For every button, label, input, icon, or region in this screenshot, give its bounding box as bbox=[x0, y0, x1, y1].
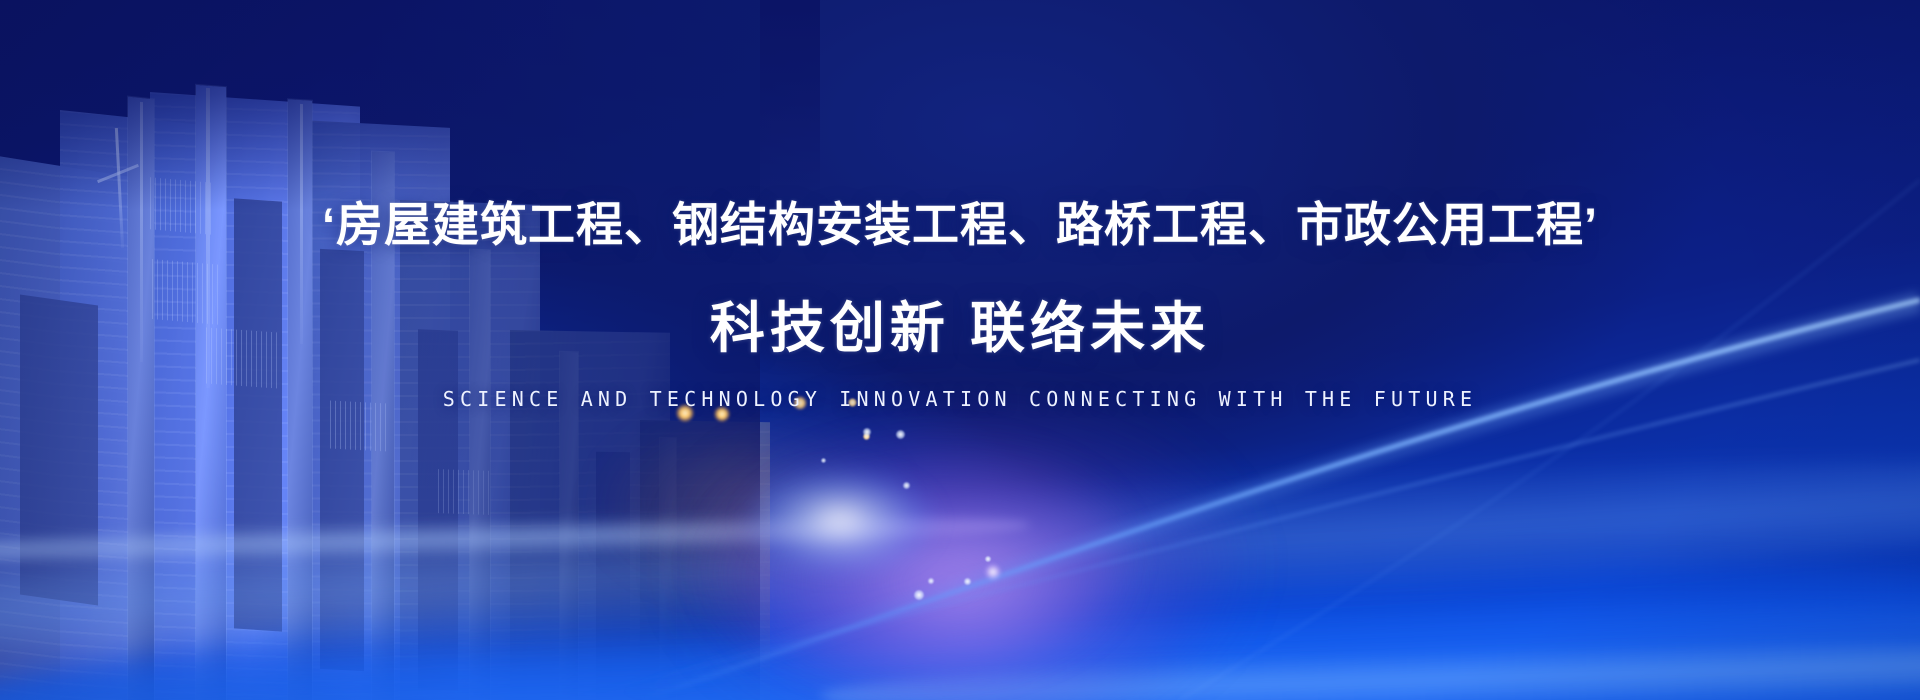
particle-white bbox=[914, 590, 924, 600]
particle-white bbox=[863, 428, 871, 436]
particle-white bbox=[985, 564, 1001, 580]
particle-white bbox=[896, 430, 905, 439]
particle-gold bbox=[863, 433, 870, 440]
hero-banner: ‘房屋建筑工程、钢结构安装工程、路桥工程、市政公用工程’ 科技创新 联络未来 S… bbox=[0, 0, 1920, 700]
subtitle-english: SCIENCE AND TECHNOLOGY INNOVATION CONNEC… bbox=[0, 387, 1920, 411]
particle-white bbox=[821, 458, 826, 463]
banner-copy: ‘房屋建筑工程、钢结构安装工程、路桥工程、市政公用工程’ 科技创新 联络未来 S… bbox=[0, 196, 1920, 411]
particle-white bbox=[903, 482, 910, 489]
headline-quote: ‘房屋建筑工程、钢结构安装工程、路桥工程、市政公用工程’ bbox=[0, 196, 1920, 253]
slogan: 科技创新 联络未来 bbox=[0, 295, 1920, 361]
particle-white bbox=[928, 578, 934, 584]
particle-white bbox=[964, 578, 971, 585]
particle-white bbox=[985, 556, 991, 562]
